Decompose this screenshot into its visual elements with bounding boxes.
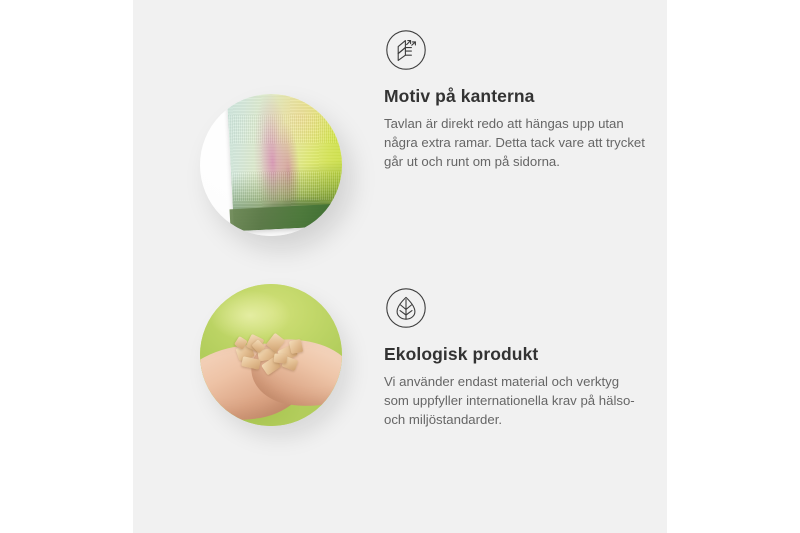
feature-body: Vi använder endast material och verktyg … — [384, 372, 646, 429]
product-feature-banner: Motiv på kanterna Tavlan är direkt redo … — [0, 0, 800, 533]
feature-block-eco-product: Ekologisk produkt Vi använder endast mat… — [133, 276, 667, 533]
feature-heading: Ekologisk produkt — [384, 344, 646, 365]
feature-heading: Motiv på kanterna — [384, 86, 646, 107]
wood-chips-in-hands-photo — [200, 284, 342, 426]
wood-chips — [234, 332, 314, 380]
feature-body: Tavlan är direkt redo att hängas upp uta… — [384, 114, 646, 171]
leaf-icon — [384, 286, 428, 330]
feature-block-canvas-edges: Motiv på kanterna Tavlan är direkt redo … — [133, 0, 667, 276]
eco-photo-background — [200, 284, 342, 426]
feature-text-canvas-edges: Motiv på kanterna Tavlan är direkt redo … — [384, 28, 646, 171]
canvas-wrapped-edges-icon — [384, 28, 428, 72]
canvas-print-photo — [200, 94, 342, 236]
feature-text-eco-product: Ekologisk produkt Vi använder endast mat… — [384, 286, 646, 429]
